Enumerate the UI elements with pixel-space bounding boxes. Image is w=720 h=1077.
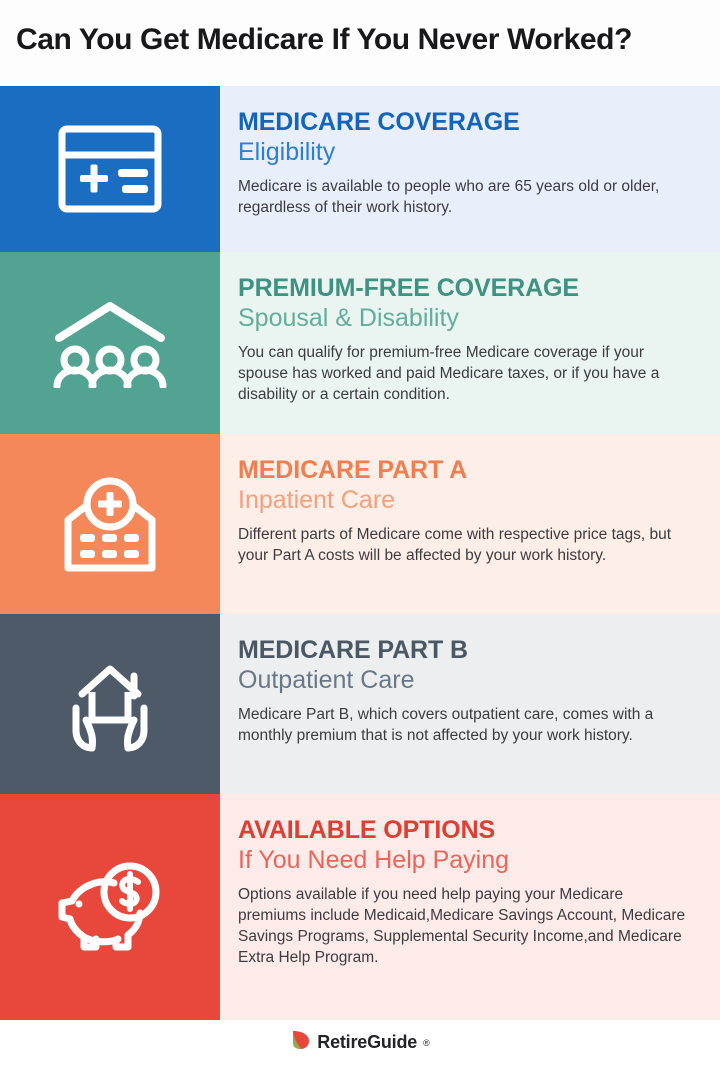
icon-panel-5 [0, 794, 220, 1020]
house-in-hands-icon [54, 654, 166, 754]
infographic-page: Can You Get Medicare If You Never Worked… [0, 0, 720, 1077]
section-kicker: MEDICARE COVERAGE [238, 108, 688, 136]
section-kicker: PREMIUM-FREE COVERAGE [238, 274, 688, 302]
section-body: Different parts of Medicare come with re… [238, 525, 688, 567]
section-subhead: If You Need Help Paying [238, 845, 688, 875]
text-panel-5: AVAILABLE OPTIONS If You Need Help Payin… [220, 794, 720, 1020]
page-header: Can You Get Medicare If You Never Worked… [0, 0, 720, 86]
piggy-bank-icon [54, 859, 166, 955]
icon-panel-1 [0, 86, 220, 252]
icon-panel-2 [0, 252, 220, 434]
section-row-medicare-coverage: MEDICARE COVERAGE Eligibility Medicare i… [0, 86, 720, 252]
medical-card-icon [56, 123, 164, 215]
text-panel-1: MEDICARE COVERAGE Eligibility Medicare i… [220, 86, 720, 252]
registered-trademark-mark: ® [423, 1038, 430, 1048]
page-footer: RetireGuide ® [0, 1020, 720, 1077]
section-body: Medicare Part B, which covers outpatient… [238, 705, 688, 747]
section-subhead: Inpatient Care [238, 485, 688, 515]
section-row-available-options: AVAILABLE OPTIONS If You Need Help Payin… [0, 794, 720, 1020]
section-body: Options available if you need help payin… [238, 885, 688, 969]
section-row-medicare-part-a: MEDICARE PART A Inpatient Care Different… [0, 434, 720, 614]
text-panel-3: MEDICARE PART A Inpatient Care Different… [220, 434, 720, 614]
section-subhead: Eligibility [238, 137, 688, 167]
sections-list: MEDICARE COVERAGE Eligibility Medicare i… [0, 86, 720, 1020]
text-panel-2: PREMIUM-FREE COVERAGE Spousal & Disabili… [220, 252, 720, 434]
section-subhead: Spousal & Disability [238, 303, 688, 333]
section-kicker: MEDICARE PART A [238, 456, 688, 484]
section-body: You can qualify for premium-free Medicar… [238, 343, 688, 406]
text-panel-4: MEDICARE PART B Outpatient Care Medicare… [220, 614, 720, 794]
retireguide-logo[interactable]: RetireGuide ® [290, 1028, 429, 1057]
section-kicker: AVAILABLE OPTIONS [238, 816, 688, 844]
retireguide-leaf-icon [290, 1028, 311, 1057]
retireguide-logo-text: RetireGuide [317, 1032, 417, 1053]
family-group-icon [51, 298, 169, 388]
hospital-icon [54, 474, 166, 574]
section-row-premium-free-coverage: PREMIUM-FREE COVERAGE Spousal & Disabili… [0, 252, 720, 434]
section-body: Medicare is available to people who are … [238, 177, 688, 219]
icon-panel-4 [0, 614, 220, 794]
page-title: Can You Get Medicare If You Never Worked… [16, 24, 632, 56]
section-row-medicare-part-b: MEDICARE PART B Outpatient Care Medicare… [0, 614, 720, 794]
section-kicker: MEDICARE PART B [238, 636, 688, 664]
section-subhead: Outpatient Care [238, 665, 688, 695]
icon-panel-3 [0, 434, 220, 614]
